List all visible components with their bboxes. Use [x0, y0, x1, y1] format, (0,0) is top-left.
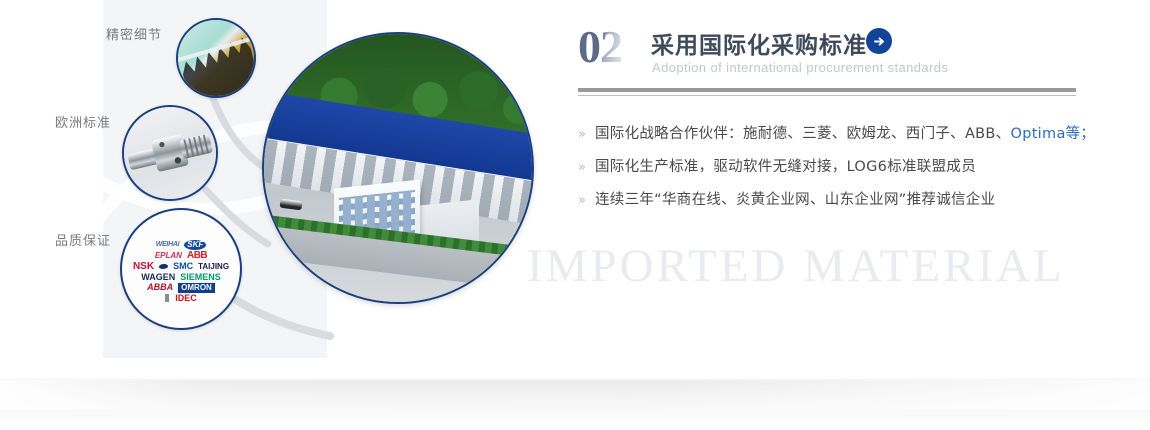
logo-siemens: SIEMENS [180, 273, 221, 282]
brand-logos-list: WEIHAI SKF EPLAN ABB NSK SMC TAIJING WAG… [122, 210, 240, 328]
logo-eplan: EPLAN [155, 252, 182, 260]
logo-idec: IDEC [175, 294, 197, 303]
logo-nsk: NSK [133, 262, 154, 272]
list-item-text: 连续三年“华商在线、炎黄企业网、山东企业网”推荐诚信企业 [595, 188, 995, 209]
smc-dot-icon [159, 264, 169, 269]
chevron-double-right-icon: » [578, 193, 586, 208]
watermark-text: IMPORTED MATERIAL [527, 239, 1065, 293]
logo-row: NSK SMC TAIJING [133, 262, 229, 272]
logo-weihai: WEIHAI [156, 241, 179, 248]
list-item: » 连续三年“华商在线、炎黄企业网、山东企业网”推荐诚信企业 [578, 188, 1098, 209]
screw-shape [124, 107, 216, 199]
list-item-text-main: 连续三年“华商在线、炎黄企业网、山东企业网”推荐诚信企业 [595, 192, 995, 208]
logo-wagen: WAGEN [141, 273, 175, 282]
section-header: 02 采用国际化采购标准 Adoption of international p… [578, 26, 1098, 88]
arrow-right-circle-icon[interactable] [866, 28, 892, 54]
logo-omron: OMRON [178, 283, 215, 293]
brand-logos-image: WEIHAI SKF EPLAN ABB NSK SMC TAIJING WAG… [120, 208, 242, 330]
logo-row: ABBA OMRON [147, 283, 215, 293]
header-divider [578, 88, 1076, 92]
list-item: » 国际化生产标准，驱动软件无缝对接，LOG6标准联盟成员 [578, 155, 1098, 176]
chevron-double-right-icon: » [578, 127, 586, 142]
logo-abba: ABBA [147, 283, 173, 292]
logo-row: IDEC [165, 294, 197, 303]
list-item-text-accent: Optima等； [1010, 126, 1095, 142]
label-european-standard: 欧洲标准 [55, 112, 111, 131]
bottom-gradient-band [0, 378, 1150, 430]
content-column: 02 采用国际化采购标准 Adoption of international p… [578, 26, 1098, 88]
list-item-text-main: 国际化战略合作伙伴：施耐德、三菱、欧姆龙、西门子、ABB、 [595, 126, 1011, 142]
list-item: » 国际化战略合作伙伴：施耐德、三菱、欧姆龙、西门子、ABB、Optima等； [578, 122, 1098, 143]
logo-abb: ABB [187, 251, 207, 261]
list-item-text: 国际化战略合作伙伴：施耐德、三菱、欧姆龙、西门子、ABB、Optima等； [595, 122, 1095, 143]
page-subtitle: Adoption of international procurement st… [652, 60, 948, 75]
section-number: 02 [578, 24, 622, 70]
list-item-text: 国际化生产标准，驱动软件无缝对接，LOG6标准联盟成员 [595, 155, 976, 176]
factory-building-aerial-image [262, 32, 534, 304]
logo-row: WAGEN SIEMENS [141, 273, 221, 282]
logo-taijing: TAIJING [198, 263, 229, 271]
chevron-double-right-icon: » [578, 160, 586, 175]
page-title: 采用国际化采购标准 [651, 26, 867, 60]
bullet-list: » 国际化战略合作伙伴：施耐德、三菱、欧姆龙、西门子、ABB、Optima等； … [578, 122, 1098, 221]
gear-teeth-closeup-image [176, 18, 256, 98]
logo-skf: SKF [184, 240, 206, 250]
header-divider-thin [578, 95, 1076, 96]
list-item-text-main: 国际化生产标准，驱动软件无缝对接，LOG6标准联盟成员 [595, 159, 976, 175]
logo-smc: SMC [173, 262, 193, 271]
idec-bar-icon [165, 294, 169, 302]
ball-screw-spindle-image [122, 105, 218, 201]
label-quality-assurance: 品质保证 [55, 230, 111, 249]
logo-row: EPLAN ABB [155, 251, 207, 261]
logo-row: WEIHAI SKF [156, 240, 206, 250]
gear-teeth-shape [178, 20, 254, 96]
label-precision-detail: 精密细节 [106, 24, 162, 43]
